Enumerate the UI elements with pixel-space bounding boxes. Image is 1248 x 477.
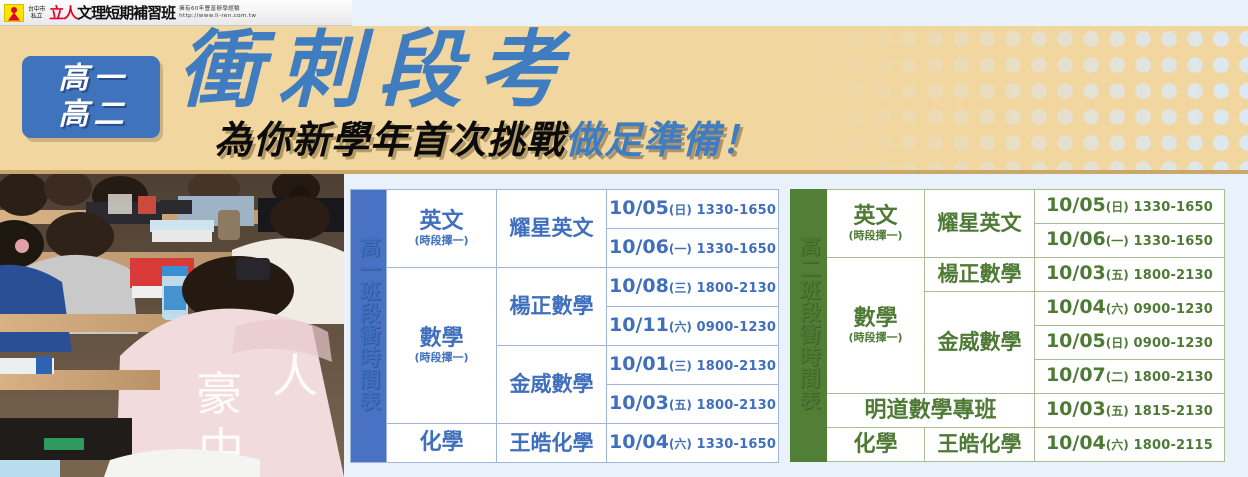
table-row: 明道數學專班10/03(五) 1815-2130 (791, 394, 1225, 428)
session-date: 10/04 (1046, 296, 1106, 318)
session-weekday: (五) (1106, 404, 1129, 418)
session-date: 10/11 (609, 314, 669, 336)
subject-note: (時段擇一) (829, 331, 922, 344)
subject-cell: 明道數學專班 (827, 394, 1035, 428)
session-time: 1800-2130 (1129, 370, 1213, 385)
banner-subtitle: 為你新學年首次挑戰做足準備！ (214, 118, 760, 162)
teacher-cell: 金威數學 (497, 346, 607, 424)
session-datetime-cell: 10/03(五) 1800-2130 (1035, 258, 1225, 292)
teacher-cell: 耀星英文 (925, 190, 1035, 258)
schedule-vertical-header: 高一班段衝時間表 (351, 190, 387, 463)
session-datetime-cell: 10/06(一) 1330-1650 (607, 229, 779, 268)
session-date: 10/05 (1046, 194, 1106, 216)
schedule-board: 高一班段衝時間表英文(時段擇一)耀星英文10/05(日) 1330-165010… (344, 174, 1248, 477)
schedule-table-grade1-body: 高一班段衝時間表英文(時段擇一)耀星英文10/05(日) 1330-165010… (351, 190, 779, 463)
classroom-photo: 豪 豪 人 中 (0, 174, 344, 477)
session-weekday: (六) (669, 437, 692, 451)
schedule-table-grade1: 高一班段衝時間表英文(時段擇一)耀星英文10/05(日) 1330-165010… (350, 189, 779, 463)
session-weekday: (二) (1106, 370, 1129, 384)
logo-tagline-block: 擁有60年豐富辦學經驗 http://www.li-ren.com.tw (179, 6, 256, 19)
subject-note: (時段擇一) (389, 234, 494, 247)
session-weekday: (五) (669, 398, 692, 412)
session-time: 1330-1650 (1129, 234, 1213, 249)
teacher-cell: 楊正數學 (925, 258, 1035, 292)
session-time: 1330-1650 (692, 242, 776, 257)
grade-badge: 高一 高二 (22, 56, 160, 138)
schedule-vertical-header-label: 高一班段衝時間表 (357, 236, 380, 412)
session-datetime-cell: 10/04(六) 1330-1650 (607, 424, 779, 463)
teacher-cell: 金威數學 (925, 292, 1035, 394)
subject-cell: 化學 (827, 428, 925, 462)
subject-cell: 英文(時段擇一) (387, 190, 497, 268)
site-logo-bar: 台中市 私立 立人文理短期補習班 擁有60年豐富辦學經驗 http://www.… (0, 0, 352, 26)
banner-title: 衝刺段考 (178, 24, 578, 116)
session-date: 10/03 (609, 392, 669, 414)
session-time: 1800-2130 (692, 359, 776, 374)
table-row: 化學王皓化學10/04(六) 1800-2115 (791, 428, 1225, 462)
logo-website[interactable]: http://www.li-ren.com.tw (179, 13, 256, 20)
schedule-vertical-header: 高二班段衝時間表 (791, 190, 827, 462)
session-datetime-cell: 10/05(日) 1330-1650 (607, 190, 779, 229)
session-datetime-cell: 10/05(日) 0900-1230 (1035, 326, 1225, 360)
banner-subtitle-blue: 做足準備！ (565, 118, 760, 162)
grade-badge-line1: 高一 (54, 61, 129, 97)
session-time: 1330-1650 (1129, 200, 1213, 215)
grade-badge-line2: 高二 (54, 97, 129, 133)
schedule-table-grade2-body: 高二班段衝時間表英文(時段擇一)耀星英文10/05(日) 1330-165010… (791, 190, 1225, 462)
teacher-cell: 王皓化學 (925, 428, 1035, 462)
session-datetime-cell: 10/04(六) 0900-1230 (1035, 292, 1225, 326)
session-datetime-cell: 10/03(五) 1800-2130 (607, 385, 779, 424)
table-row: 數學(時段擇一)楊正數學10/03(五) 1800-2130 (791, 258, 1225, 292)
logo-city-text: 台中市 (28, 6, 45, 13)
session-date: 10/07 (1046, 364, 1106, 386)
subject-note: (時段擇一) (829, 229, 922, 242)
session-date: 10/03 (1046, 398, 1106, 420)
session-weekday: (三) (669, 359, 692, 373)
classroom-photo-image: 豪 豪 人 中 (0, 174, 344, 477)
session-time: 0900-1230 (1129, 302, 1213, 317)
logo-city-block: 台中市 私立 (28, 6, 45, 20)
svg-text:豪: 豪 (196, 369, 242, 420)
teacher-cell: 耀星英文 (497, 190, 607, 268)
session-datetime-cell: 10/05(日) 1330-1650 (1035, 190, 1225, 224)
session-weekday: (六) (1106, 302, 1129, 316)
school-name-red: 立人 (49, 4, 77, 22)
session-time: 0900-1230 (692, 320, 776, 335)
session-weekday: (一) (669, 242, 692, 256)
teacher-cell: 王皓化學 (497, 424, 607, 463)
person-badge-icon (4, 4, 24, 22)
session-time: 1330-1650 (692, 203, 776, 218)
session-date: 10/06 (1046, 228, 1106, 250)
table-row: 數學(時段擇一)楊正數學10/08(三) 1800-2130 (351, 268, 779, 307)
halftone-dots-decoration (818, 26, 1248, 174)
session-time: 1800-2130 (1129, 268, 1213, 283)
session-datetime-cell: 10/06(一) 1330-1650 (1035, 224, 1225, 258)
session-datetime-cell: 10/04(六) 1800-2115 (1035, 428, 1225, 462)
session-weekday: (三) (669, 281, 692, 295)
session-date: 10/06 (609, 236, 669, 258)
session-time: 1800-2130 (692, 398, 776, 413)
session-weekday: (一) (1106, 234, 1129, 248)
session-time: 1330-1650 (692, 437, 776, 452)
session-date: 10/04 (609, 431, 669, 453)
session-date: 10/03 (1046, 262, 1106, 284)
session-weekday: (日) (1106, 336, 1129, 350)
session-date: 10/01 (609, 353, 669, 375)
svg-text:人: 人 (272, 351, 318, 402)
subject-note: (時段擇一) (389, 351, 494, 364)
subject-cell: 化學 (387, 424, 497, 463)
banner-subtitle-black: 為你新學年首次挑戰 (214, 118, 565, 162)
subject-cell: 英文(時段擇一) (827, 190, 925, 258)
session-datetime-cell: 10/01(三) 1800-2130 (607, 346, 779, 385)
session-date: 10/05 (1046, 330, 1106, 352)
session-weekday: (六) (1106, 438, 1129, 452)
session-datetime-cell: 10/07(二) 1800-2130 (1035, 360, 1225, 394)
subject-cell: 數學(時段擇一) (387, 268, 497, 424)
school-name: 立人文理短期補習班 (49, 2, 175, 23)
session-time: 1800-2115 (1129, 438, 1213, 453)
session-time: 1815-2130 (1129, 404, 1213, 419)
table-row: 化學王皓化學10/04(六) 1330-1650 (351, 424, 779, 463)
session-date: 10/08 (609, 275, 669, 297)
table-row: 高二班段衝時間表英文(時段擇一)耀星英文10/05(日) 1330-1650 (791, 190, 1225, 224)
session-date: 10/04 (1046, 432, 1106, 454)
subject-cell: 數學(時段擇一) (827, 258, 925, 394)
session-datetime-cell: 10/11(六) 0900-1230 (607, 307, 779, 346)
session-datetime-cell: 10/03(五) 1815-2130 (1035, 394, 1225, 428)
school-name-black: 文理短期補習班 (77, 4, 175, 22)
session-time: 1800-2130 (692, 281, 776, 296)
session-date: 10/05 (609, 197, 669, 219)
session-weekday: (六) (669, 320, 692, 334)
teacher-cell: 楊正數學 (497, 268, 607, 346)
table-row: 高一班段衝時間表英文(時段擇一)耀星英文10/05(日) 1330-1650 (351, 190, 779, 229)
session-datetime-cell: 10/08(三) 1800-2130 (607, 268, 779, 307)
logo-private-text: 私立 (28, 13, 45, 20)
session-weekday: (日) (1106, 200, 1129, 214)
session-time: 0900-1230 (1129, 336, 1213, 351)
session-weekday: (五) (1106, 268, 1129, 282)
session-weekday: (日) (669, 203, 692, 217)
schedule-vertical-header-label: 高二班段衝時間表 (797, 235, 820, 411)
schedule-table-grade2: 高二班段衝時間表英文(時段擇一)耀星英文10/05(日) 1330-165010… (790, 189, 1225, 462)
